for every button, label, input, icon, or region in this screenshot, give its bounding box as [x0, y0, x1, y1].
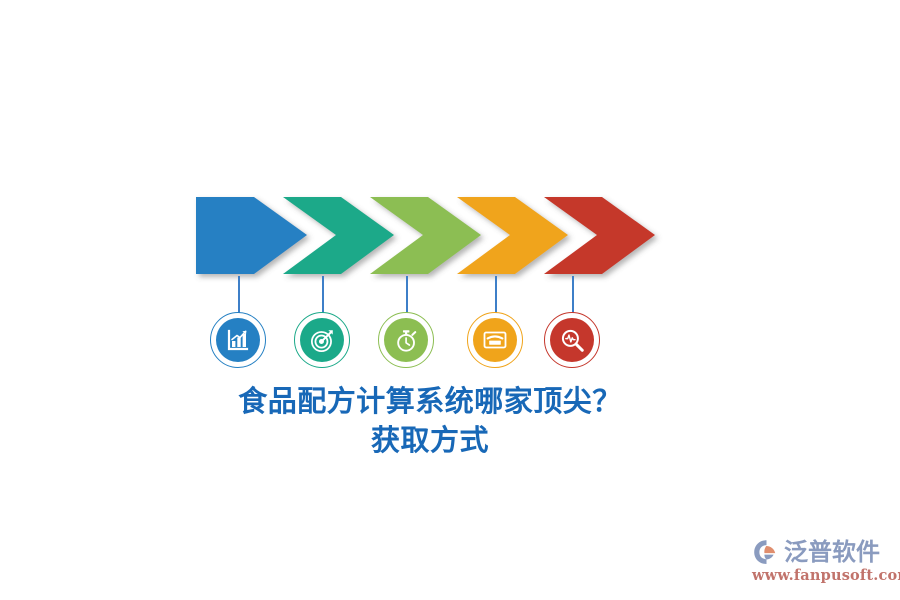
magnifier-pulse-icon [560, 328, 585, 353]
step-node-1[interactable] [210, 312, 266, 368]
target-dart-icon [310, 328, 335, 353]
step-node-2[interactable] [294, 312, 350, 368]
connector-line-1 [238, 276, 240, 313]
connector-line-3 [406, 276, 408, 313]
chevron-ribbon [190, 190, 670, 285]
stopwatch-icon [394, 328, 419, 353]
slide-canvas: 食品配方计算系统哪家顶尖？ 获取方式 泛普软件 www.fanpusoft.co… [0, 0, 900, 600]
watermark-url: www.fanpusoft.com [752, 567, 892, 584]
chevron-segment-1[interactable] [196, 197, 307, 274]
step-node-5[interactable] [544, 312, 600, 368]
connector-line-5 [572, 276, 574, 313]
node-disc-2 [300, 318, 344, 362]
node-disc-4 [473, 318, 517, 362]
step-node-4[interactable] [467, 312, 523, 368]
node-disc-5 [550, 318, 594, 362]
software-card-icon [482, 327, 508, 353]
title-line-2: 获取方式 [0, 421, 860, 460]
connector-line-4 [495, 276, 497, 313]
node-disc-3 [384, 318, 428, 362]
watermark-brand-row: 泛普软件 [752, 536, 892, 568]
connector-line-2 [322, 276, 324, 313]
bar-chart-growth-icon [226, 328, 250, 352]
step-node-3[interactable] [378, 312, 434, 368]
title-line-1: 食品配方计算系统哪家顶尖？ [0, 382, 860, 421]
page-title: 食品配方计算系统哪家顶尖？ 获取方式 [0, 382, 860, 460]
fanpu-logo-icon [752, 537, 782, 567]
node-disc-1 [216, 318, 260, 362]
watermark: 泛普软件 www.fanpusoft.com [752, 536, 892, 588]
watermark-brand-name: 泛普软件 [784, 537, 880, 567]
